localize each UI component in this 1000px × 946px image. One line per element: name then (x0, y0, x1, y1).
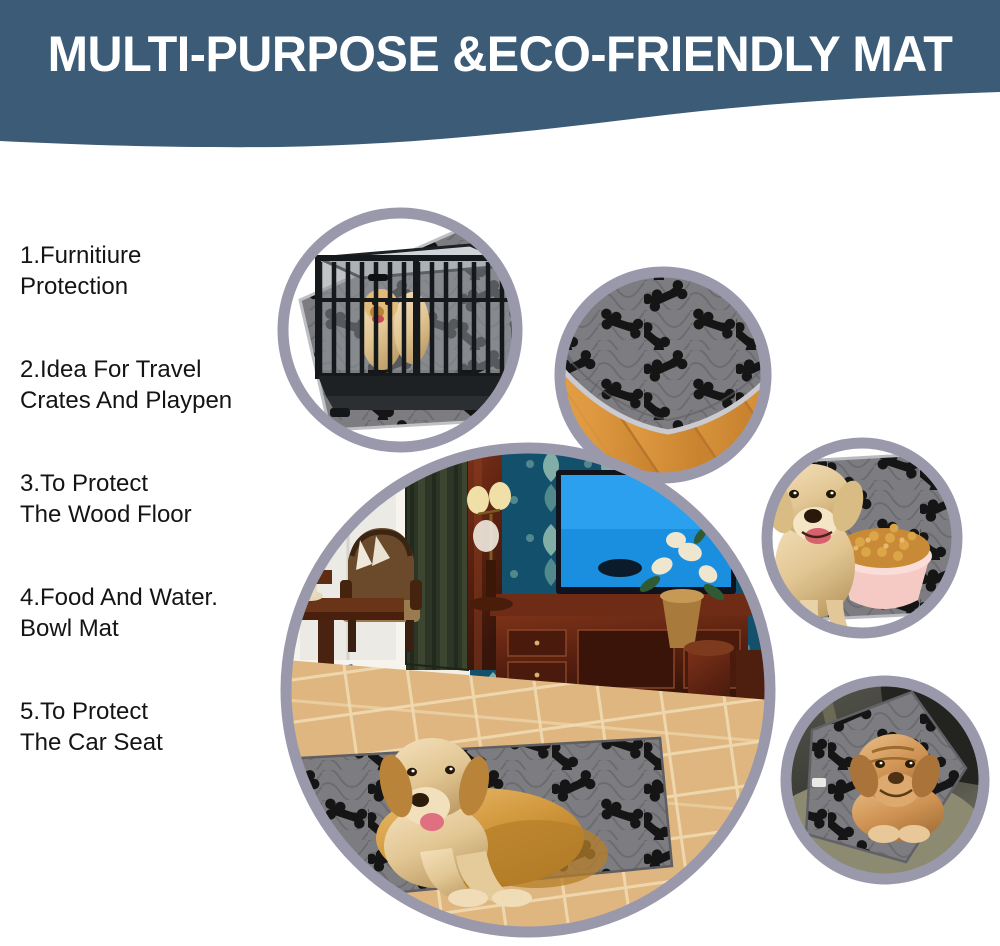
food-bowl-photo (757, 443, 968, 642)
food-bowl (836, 524, 932, 609)
feature-item-5: 5.To Protect The Car Seat (20, 696, 282, 758)
food-bowl-photo-ring (767, 443, 957, 633)
wood-floor-photo (548, 250, 790, 478)
tv-console (490, 594, 752, 712)
crate-photo-ring (283, 213, 517, 447)
feature-item-2: 2.Idea For Travel Crates And Playpen (20, 354, 282, 416)
feature-item-4: 4.Food And Water. Bowl Mat (20, 582, 282, 644)
candelabra (467, 482, 513, 611)
feature-item-1: 1.Furnitiure Protection (20, 240, 282, 302)
bone-mat (300, 738, 672, 900)
car-seat-photo-ring (786, 681, 984, 879)
wood-floor-photo-ring (560, 272, 766, 478)
living-room-photo-ring (286, 448, 770, 932)
coffee-table (286, 570, 404, 679)
page-title: MULTI-PURPOSE &ECO-FRIENDLY MAT (15, 24, 985, 84)
crate-photo (283, 213, 560, 447)
television (556, 470, 736, 594)
living-room-photo (286, 448, 776, 932)
feature-item-3: 3.To Protect The Wood Floor (20, 468, 282, 530)
header-banner: MULTI-PURPOSE &ECO-FRIENDLY MAT (0, 0, 1000, 150)
puppy (845, 734, 945, 843)
feature-list: 1.Furnitiure Protection 2.Idea For Trave… (20, 240, 282, 758)
car-seat-photo (786, 681, 984, 879)
armchair (340, 528, 422, 652)
dog-crate (318, 245, 516, 417)
flower-urn (637, 526, 726, 648)
car-bone-mat (806, 692, 966, 862)
golden-retriever-bowl (757, 464, 869, 642)
product-infographic: MULTI-PURPOSE &ECO-FRIENDLY MAT 1.Furnit… (0, 0, 1000, 946)
golden-retriever (374, 738, 608, 907)
